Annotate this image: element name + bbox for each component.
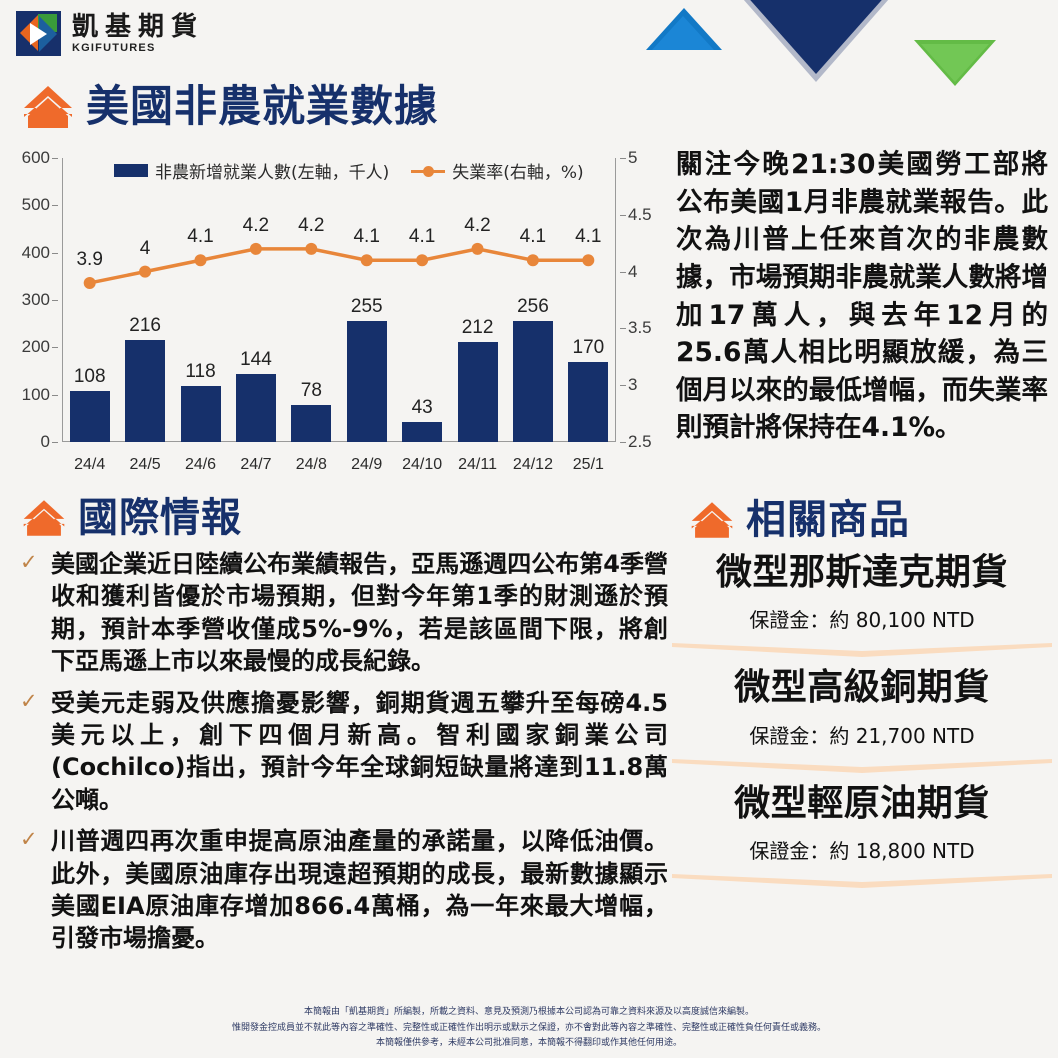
arrow-up-icon <box>22 498 66 538</box>
chart-line-value: 4.1 <box>409 226 435 248</box>
x-axis-label: 24/5 <box>117 456 172 474</box>
chart-line-point <box>305 243 317 255</box>
product-card[interactable]: 微型那斯達克期貨保證金：約 80,100 NTD <box>672 552 1052 633</box>
chart-line-value: 4.1 <box>353 226 379 248</box>
x-axis-label: 24/8 <box>284 456 339 474</box>
news-item-text: 受美元走弱及供應擔憂影響，銅期貨週五攀升至每磅4.5美元以上，創下四個月新高。智… <box>51 687 668 817</box>
legend-item-bars: 非農新增就業人數(左軸，千人) <box>114 158 389 183</box>
news-list: ✓美國企業近日陸續公布業績報告，亞馬遜週四公布第4季營收和獲利皆優於市場預期，但… <box>20 548 668 964</box>
chart-line-point <box>416 254 428 266</box>
x-axis-label: 24/10 <box>394 456 449 474</box>
chart-line-value: 4.1 <box>575 226 601 248</box>
news-item-text: 川普週四再次重申提高原油產量的承諾量，以降低油價。此外，美國原油庫存出現遠超預期… <box>51 825 668 955</box>
kgi-logo-icon <box>16 11 61 56</box>
disclaimer-line-3: 本簡報僅供參考，未經本公司批准同意，本簡報不得翻印或作其他任何用途。 <box>0 1036 1058 1052</box>
chart-line-value: 4.2 <box>464 215 490 237</box>
page-title-text: 美國非農就業數據 <box>86 86 438 129</box>
chart-line-point <box>527 254 539 266</box>
infographic-page: 凱基期貨 KGIFUTURES 美國非農就業數據 非農新增就業人數(左軸，千人)… <box>0 0 1058 1058</box>
chart-line-value: 4 <box>140 238 151 260</box>
y-axis-left-tick: 400 <box>22 243 50 263</box>
news-section-title: 國際情報 <box>22 498 242 538</box>
y-axis-right-tick: 5 <box>628 148 637 168</box>
news-item: ✓受美元走弱及供應擔憂影響，銅期貨週五攀升至每磅4.5美元以上，創下四個月新高。… <box>20 687 668 817</box>
y-axis-right-tick: 2.5 <box>628 432 652 452</box>
product-margin: 保證金：約 18,800 NTD <box>672 835 1052 864</box>
triangle-down-green-inner-icon <box>921 44 989 82</box>
check-icon: ✓ <box>20 825 42 955</box>
y-axis-right-tick: 4.5 <box>628 205 652 225</box>
y-axis-left-tick: 500 <box>22 195 50 215</box>
products-section-title: 相關商品 <box>690 500 910 540</box>
chart-line-series: 3.944.14.24.24.14.14.24.14.1 <box>62 158 616 442</box>
y-axis-left-tick: 300 <box>22 290 50 310</box>
y-axis-right-tick: 3 <box>628 375 637 395</box>
x-axis-label: 24/11 <box>450 456 505 474</box>
check-icon: ✓ <box>20 687 42 817</box>
y-axis-left-tick: 100 <box>22 385 50 405</box>
x-axis-label: 24/6 <box>173 456 228 474</box>
disclaimer-line-1: 本簡報由「凱基期貨」所編製，所載之資料、意見及預測乃根據本公司認為可靠之資料來源… <box>0 1005 1058 1021</box>
legend-swatch-line-icon <box>411 165 445 177</box>
news-section-title-text: 國際情報 <box>78 498 242 538</box>
triangle-up-blue-inner-icon <box>652 16 714 50</box>
legend-item-line: 失業率(右軸，%) <box>411 158 583 183</box>
check-icon: ✓ <box>20 548 42 678</box>
x-axis-label: 24/7 <box>228 456 283 474</box>
chart-line-value: 4.2 <box>243 215 269 237</box>
chart-x-axis-labels: 24/424/524/624/724/824/924/1024/1124/122… <box>62 456 616 474</box>
arrow-up-icon <box>690 500 734 540</box>
chart-line-value: 4.1 <box>520 226 546 248</box>
commentary-text: 關注今晚21:30美國勞工部將公布美國1月非農就業報告。此次為川普上任來首次的非… <box>676 146 1048 447</box>
news-item: ✓川普週四再次重申提高原油產量的承諾量，以降低油價。此外，美國原油庫存出現遠超預… <box>20 825 668 955</box>
news-item-text: 美國企業近日陸續公布業績報告，亞馬遜週四公布第4季營收和獲利皆優於市場預期，但對… <box>51 548 668 678</box>
product-card[interactable]: 微型高級銅期貨保證金：約 21,700 NTD <box>672 667 1052 748</box>
product-name: 微型高級銅期貨 <box>672 667 1052 708</box>
brand-name-cn: 凱基期貨 <box>72 13 204 39</box>
y-axis-right-tick: 3.5 <box>628 318 652 338</box>
page-title: 美國非農就業數據 <box>22 84 438 130</box>
disclaimer: 本簡報由「凱基期貨」所編製，所載之資料、意見及預測乃根據本公司認為可靠之資料來源… <box>0 1005 1058 1052</box>
x-axis-label: 25/1 <box>561 456 616 474</box>
y-axis-left-tick: 600 <box>22 148 50 168</box>
news-item: ✓美國企業近日陸續公布業績報告，亞馬遜週四公布第4季營收和獲利皆優於市場預期，但… <box>20 548 668 678</box>
product-separator <box>672 749 1052 783</box>
chart-line-value: 4.1 <box>187 226 213 248</box>
nonfarm-payroll-chart: 非農新增就業人數(左軸，千人) 失業率(右軸，%) 01002003004005… <box>14 152 662 484</box>
triangle-down-navy-icon <box>720 0 912 74</box>
chart-line-path <box>90 249 589 283</box>
product-margin: 保證金：約 80,100 NTD <box>672 604 1052 633</box>
products-list: 微型那斯達克期貨保證金：約 80,100 NTD微型高級銅期貨保證金：約 21,… <box>672 552 1052 898</box>
product-separator <box>672 864 1052 898</box>
legend-label-line: 失業率(右軸，%) <box>452 158 583 183</box>
decorative-triangles <box>628 0 1058 90</box>
chart-legend: 非農新增就業人數(左軸，千人) 失業率(右軸，%) <box>114 158 584 183</box>
chart-line-point <box>472 243 484 255</box>
product-separator <box>672 633 1052 667</box>
product-margin: 保證金：約 21,700 NTD <box>672 720 1052 749</box>
legend-swatch-bar-icon <box>114 164 148 177</box>
chart-line-value: 4.2 <box>298 215 324 237</box>
brand-header: 凱基期貨 KGIFUTURES <box>16 11 204 56</box>
chart-y-axis-right: 2.533.544.55 <box>618 158 662 442</box>
chart-line-point <box>250 243 262 255</box>
product-card[interactable]: 微型輕原油期貨保證金：約 18,800 NTD <box>672 783 1052 864</box>
legend-label-bars: 非農新增就業人數(左軸，千人) <box>155 158 389 183</box>
chart-line-point <box>582 254 594 266</box>
chart-line-point <box>84 277 96 289</box>
x-axis-label: 24/4 <box>62 456 117 474</box>
chart-line-point <box>195 254 207 266</box>
chart-line-value: 3.9 <box>76 249 102 271</box>
products-section-title-text: 相關商品 <box>746 500 910 540</box>
brand-name-en: KGIFUTURES <box>72 42 204 54</box>
x-axis-label: 24/9 <box>339 456 394 474</box>
y-axis-left-tick: 0 <box>41 432 50 452</box>
x-axis-label: 24/12 <box>505 456 560 474</box>
product-name: 微型那斯達克期貨 <box>672 552 1052 593</box>
chart-line-point <box>139 266 151 278</box>
y-axis-left-tick: 200 <box>22 337 50 357</box>
arrow-up-icon <box>22 84 74 130</box>
y-axis-right-tick: 4 <box>628 262 637 282</box>
product-name: 微型輕原油期貨 <box>672 783 1052 824</box>
chart-y-axis-left: 0100200300400500600 <box>14 158 58 442</box>
chart-line-point <box>361 254 373 266</box>
disclaimer-line-2: 惟開發金控成員並不就此等內容之準確性、完整性或正確性作出明示或默示之保證，亦不會… <box>0 1021 1058 1037</box>
